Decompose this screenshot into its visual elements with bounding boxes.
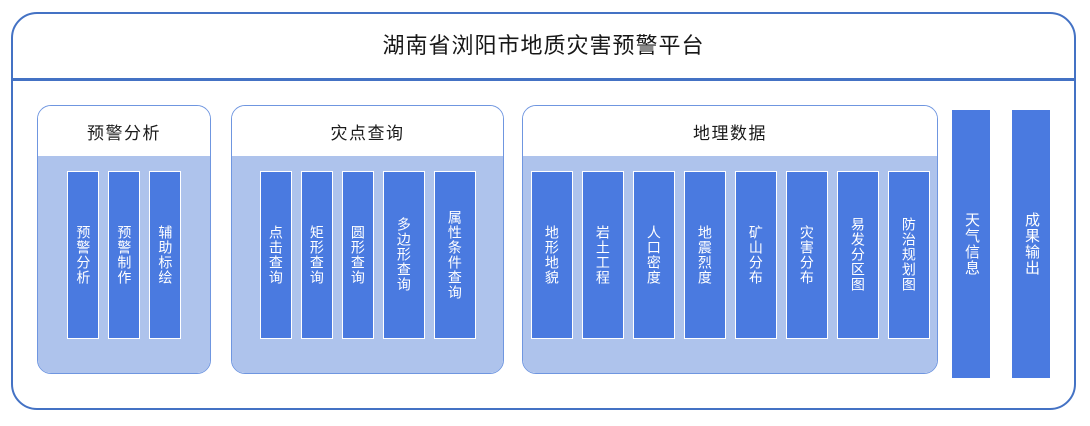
tile-seismic-intensity[interactable]: 地震烈度	[684, 171, 726, 339]
title-divider	[13, 78, 1074, 81]
tile-label: 人口密度	[646, 225, 661, 285]
panel-title-early-warning-analysis: 预警分析	[87, 119, 161, 144]
tile-label: 多边形查询	[396, 217, 411, 292]
tile-rectangle-query[interactable]: 矩形查询	[301, 171, 333, 339]
tile-circle-query[interactable]: 圆形查询	[342, 171, 374, 339]
tile-early-warning-analysis[interactable]: 预警分析	[67, 171, 99, 339]
tile-geotechnical-engineering[interactable]: 岩土工程	[582, 171, 624, 339]
tile-prevention-planning-map[interactable]: 防治规划图	[888, 171, 930, 339]
tile-label: 属性条件查询	[447, 210, 462, 300]
platform-title-bar: 湖南省浏阳市地质灾害预警平台	[11, 12, 1076, 79]
tile-label: 地形地貌	[544, 225, 559, 285]
tile-label: 防治规划图	[901, 217, 916, 292]
panel-title-disaster-point-query: 灾点查询	[331, 119, 405, 144]
panel-geographic-data[interactable]: 地理数据 地形地貌 岩土工程 人口密度 地震烈度 矿山分布 灾害分布 易发分区图	[522, 105, 938, 374]
tile-mine-distribution[interactable]: 矿山分布	[735, 171, 777, 339]
tile-susceptibility-zoning-map[interactable]: 易发分区图	[837, 171, 879, 339]
tile-label: 天气信息	[963, 212, 979, 276]
panel-header-early-warning-analysis: 预警分析	[38, 106, 210, 156]
tile-terrain-landform[interactable]: 地形地貌	[531, 171, 573, 339]
tile-label: 圆形查询	[350, 225, 365, 285]
tile-weather-information[interactable]: 天气信息	[952, 110, 990, 378]
tile-auxiliary-plotting[interactable]: 辅助标绘	[149, 171, 181, 339]
tile-result-output[interactable]: 成果输出	[1012, 110, 1050, 378]
panel-title-geographic-data: 地理数据	[693, 119, 767, 144]
tile-label: 成果输出	[1023, 212, 1039, 276]
panel-header-geographic-data: 地理数据	[523, 106, 937, 156]
tile-label: 辅助标绘	[158, 225, 173, 285]
tile-early-warning-production[interactable]: 预警制作	[108, 171, 140, 339]
tile-label: 地震烈度	[697, 225, 712, 285]
panel-body-early-warning-analysis: 预警分析 预警制作 辅助标绘	[38, 156, 210, 373]
tile-label: 灾害分布	[799, 225, 814, 285]
platform-diagram: 湖南省浏阳市地质灾害预警平台 预警分析 预警分析 预警制作 辅助标绘 灾点查询 …	[0, 0, 1090, 426]
page-title: 湖南省浏阳市地质灾害预警平台	[382, 35, 704, 57]
tile-label: 易发分区图	[850, 217, 865, 292]
tile-label: 矿山分布	[748, 225, 763, 285]
tile-label: 预警制作	[117, 225, 132, 285]
tile-population-density[interactable]: 人口密度	[633, 171, 675, 339]
tile-label: 预警分析	[76, 225, 91, 285]
tile-label: 点击查询	[268, 225, 283, 285]
panel-body-geographic-data: 地形地貌 岩土工程 人口密度 地震烈度 矿山分布 灾害分布 易发分区图 防治规划…	[523, 156, 937, 373]
tile-disaster-distribution[interactable]: 灾害分布	[786, 171, 828, 339]
tile-click-query[interactable]: 点击查询	[260, 171, 292, 339]
panel-body-disaster-point-query: 点击查询 矩形查询 圆形查询 多边形查询 属性条件查询	[232, 156, 503, 373]
tile-label: 岩土工程	[595, 225, 610, 285]
tile-label: 矩形查询	[309, 225, 324, 285]
panel-disaster-point-query[interactable]: 灾点查询 点击查询 矩形查询 圆形查询 多边形查询 属性条件查询	[231, 105, 504, 374]
panel-early-warning-analysis[interactable]: 预警分析 预警分析 预警制作 辅助标绘	[37, 105, 211, 374]
panel-header-disaster-point-query: 灾点查询	[232, 106, 503, 156]
tile-attribute-condition-query[interactable]: 属性条件查询	[434, 171, 476, 339]
tile-polygon-query[interactable]: 多边形查询	[383, 171, 425, 339]
